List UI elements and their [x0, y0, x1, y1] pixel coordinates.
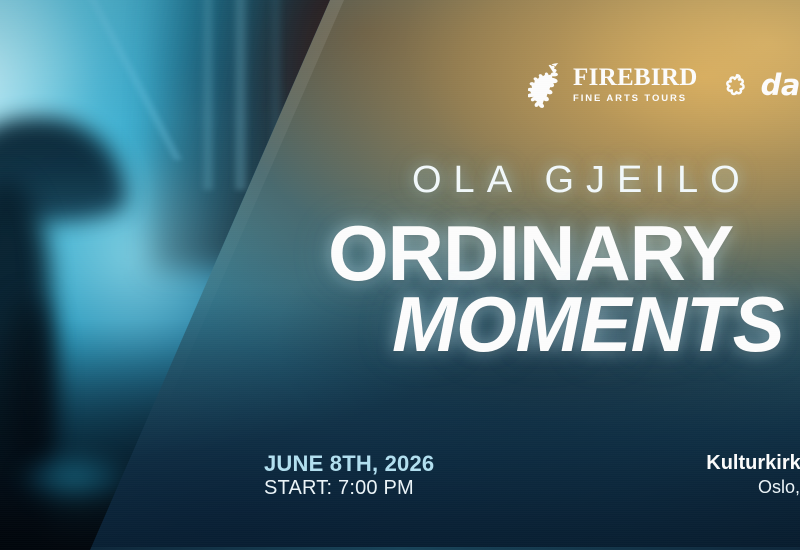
artist-name: OLA GJEILO [412, 159, 752, 202]
event-poster: FIREBIRD FINE ARTS TOURS dailycho OLA GJ… [0, 0, 800, 550]
firebird-tagline: FINE ARTS TOURS [573, 93, 698, 104]
daily-choir-star-icon [722, 70, 752, 100]
venue-name: Kulturkirken Jak [663, 452, 800, 476]
logo-row: FIREBIRD FINE ARTS TOURS dailycho [528, 62, 800, 108]
firebird-name: FIREBIRD [573, 66, 698, 90]
dailychoir-logo: dailycho [722, 68, 800, 102]
firebird-logo: FIREBIRD FINE ARTS TOURS [528, 62, 698, 108]
title-line-2: MOMENTS [392, 285, 784, 363]
dailychoir-wordmark: dailycho [761, 68, 800, 102]
firebird-phoenix-icon [528, 62, 566, 108]
firebird-wordmark: FIREBIRD FINE ARTS TOURS [573, 66, 698, 104]
event-date: JUNE 8TH, 2026 [264, 452, 434, 477]
date-block: JUNE 8TH, 2026 START: 7:00 PM [264, 452, 434, 500]
venue-block: Kulturkirken Jak Oslo, Norw [663, 452, 800, 498]
event-start-time: START: 7:00 PM [264, 477, 434, 500]
venue-city: Oslo, Norw [663, 477, 800, 499]
